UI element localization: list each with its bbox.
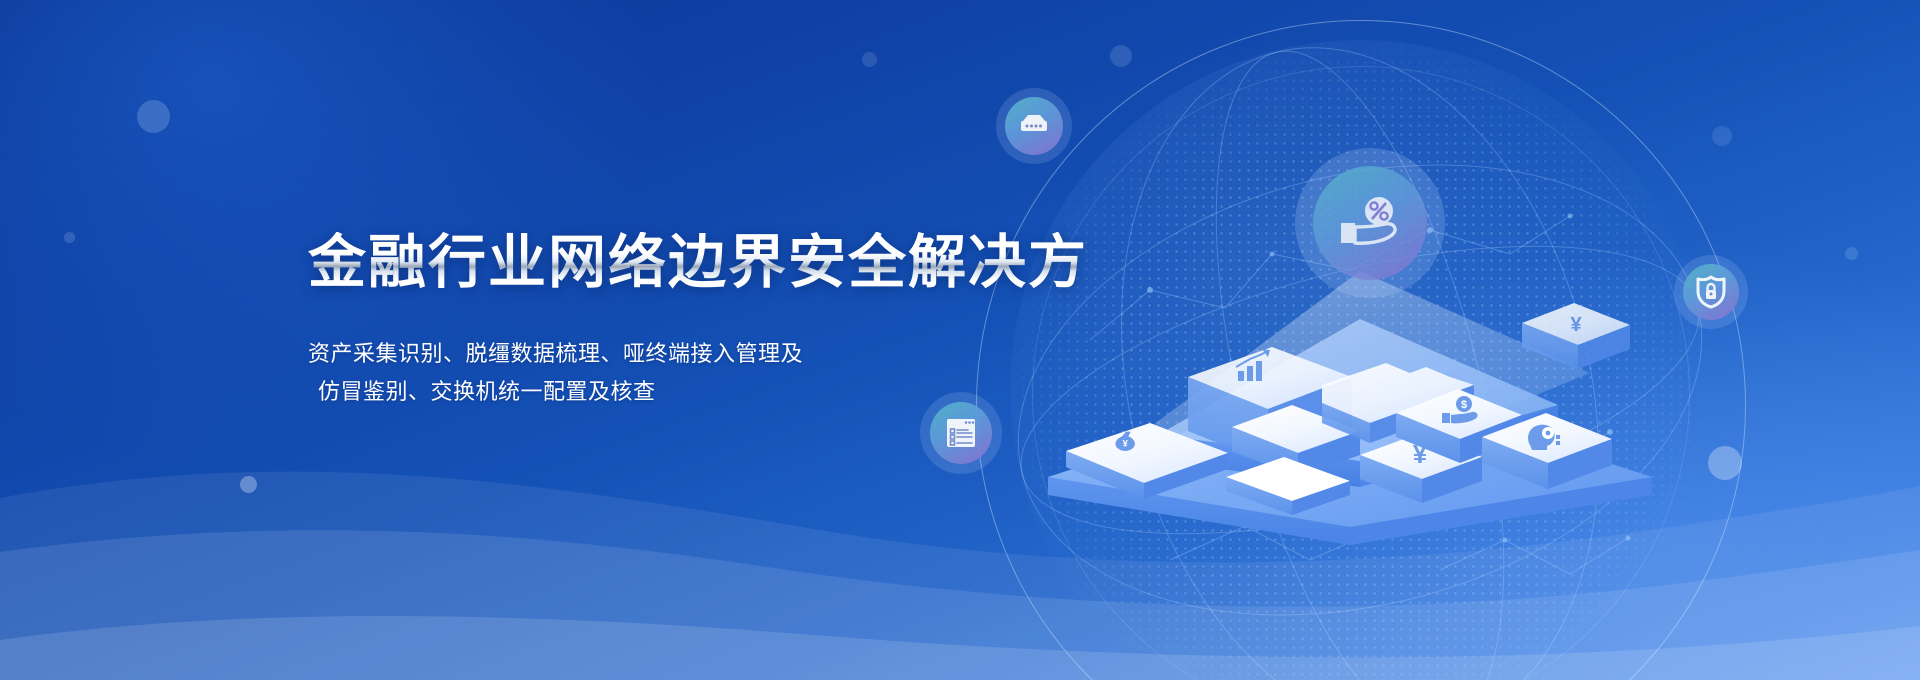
router-switch-badge (996, 88, 1072, 164)
router-switch-icon (1005, 97, 1063, 155)
bokeh-dot-5 (1845, 247, 1858, 260)
bokeh-dot-4 (1712, 126, 1732, 146)
finance-security-hero-banner: ¥ (0, 0, 1920, 680)
bokeh-dot-8 (862, 52, 877, 67)
shield-lock-badge (1674, 255, 1748, 329)
bottom-wave-decoration (0, 380, 1920, 680)
bokeh-dot-7 (64, 232, 75, 243)
svg-text:¥: ¥ (1570, 314, 1582, 336)
hand-percent-icon (1313, 166, 1427, 280)
hand-percent-badge (1295, 148, 1445, 298)
bokeh-dot-1 (137, 100, 170, 133)
page-title: 金融行业网络边界安全解决方案 (308, 232, 1088, 295)
shield-lock-icon (1683, 264, 1739, 320)
hero-subtitle-line-1: 资产采集识别、脱缰数据梳理、哑终端接入管理及 (308, 335, 1088, 374)
